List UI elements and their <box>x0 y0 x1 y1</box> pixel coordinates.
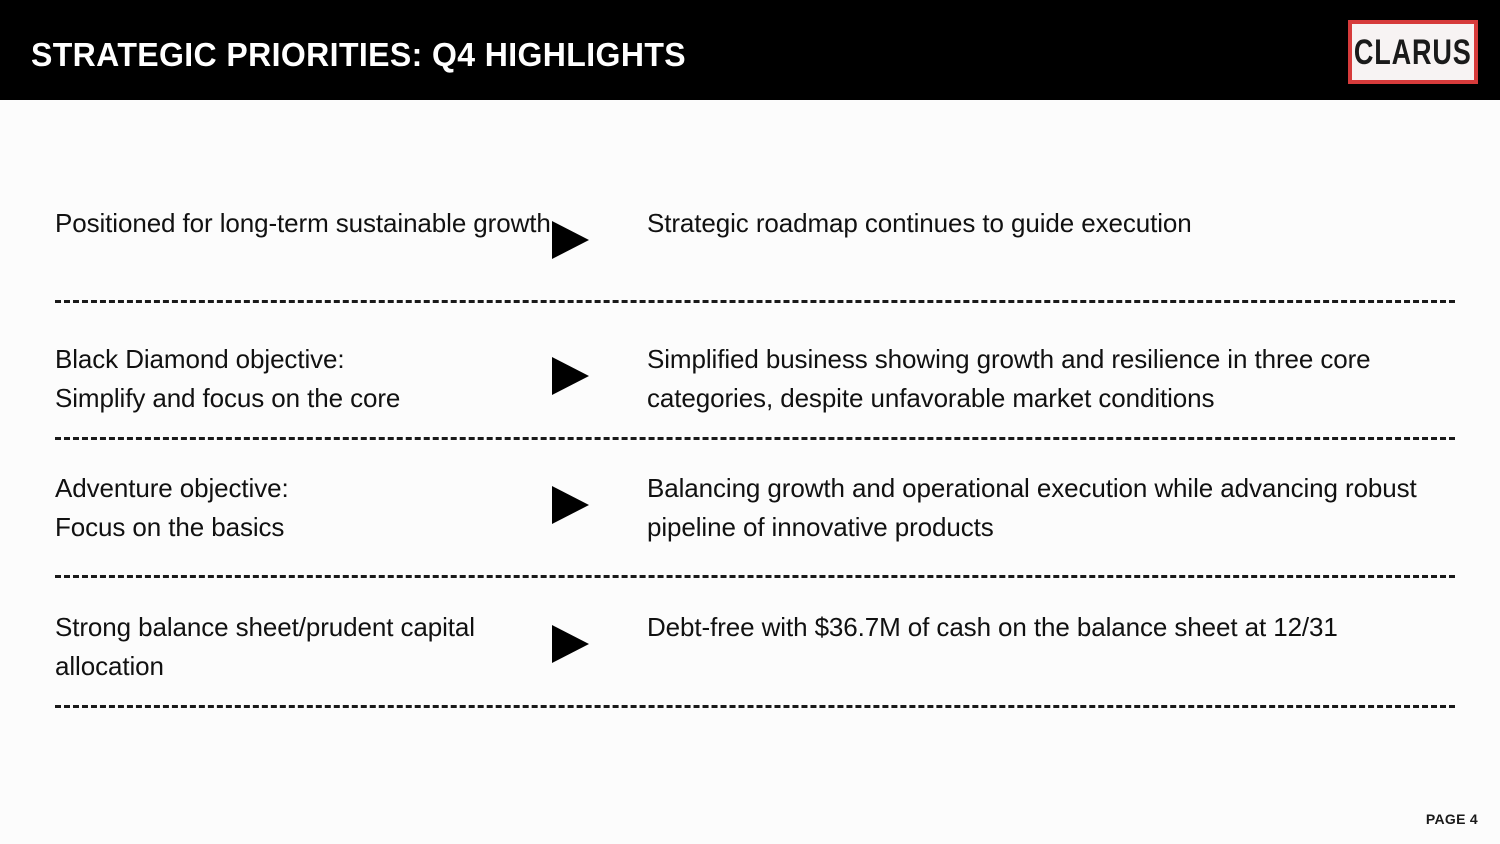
priority-label: Positioned for long-term sustainable gro… <box>55 204 552 243</box>
priority-label: Black Diamond objective:Simplify and foc… <box>55 340 552 417</box>
row-marker-cell <box>552 340 647 395</box>
page-title: STRATEGIC PRIORITIES: Q4 HIGHLIGHTS <box>31 34 686 76</box>
priority-label: Strong balance sheet/prudent capital all… <box>55 608 552 685</box>
play-triangle-icon <box>552 486 589 524</box>
row-marker-cell <box>552 469 647 524</box>
row-marker-cell <box>552 204 647 259</box>
priority-detail: Simplified business showing growth and r… <box>647 340 1455 417</box>
priority-detail: Debt-free with $36.7M of cash on the bal… <box>647 608 1455 647</box>
priority-label: Adventure objective:Focus on the basics <box>55 469 552 546</box>
priority-detail: Balancing growth and operational executi… <box>647 469 1455 546</box>
priority-row: Positioned for long-term sustainable gro… <box>55 204 1455 259</box>
slide-header-bar: STRATEGIC PRIORITIES: Q4 HIGHLIGHTS CLAR… <box>0 0 1500 100</box>
play-triangle-icon <box>552 625 589 663</box>
clarus-logo: CLARUS <box>1348 20 1478 84</box>
play-triangle-icon <box>552 221 589 259</box>
row-divider <box>55 705 1455 708</box>
row-marker-cell <box>552 608 647 663</box>
play-triangle-icon <box>552 357 589 395</box>
row-divider <box>55 300 1455 303</box>
clarus-logo-text: CLARUS <box>1354 31 1472 72</box>
priority-row: Strong balance sheet/prudent capital all… <box>55 608 1455 685</box>
priority-detail: Strategic roadmap continues to guide exe… <box>647 204 1455 243</box>
page-number: PAGE 4 <box>1426 811 1478 827</box>
priority-row: Black Diamond objective:Simplify and foc… <box>55 340 1455 417</box>
row-divider <box>55 437 1455 440</box>
priority-row: Adventure objective:Focus on the basics … <box>55 469 1455 546</box>
slide-canvas: STRATEGIC PRIORITIES: Q4 HIGHLIGHTS CLAR… <box>0 0 1500 844</box>
row-divider <box>55 575 1455 578</box>
